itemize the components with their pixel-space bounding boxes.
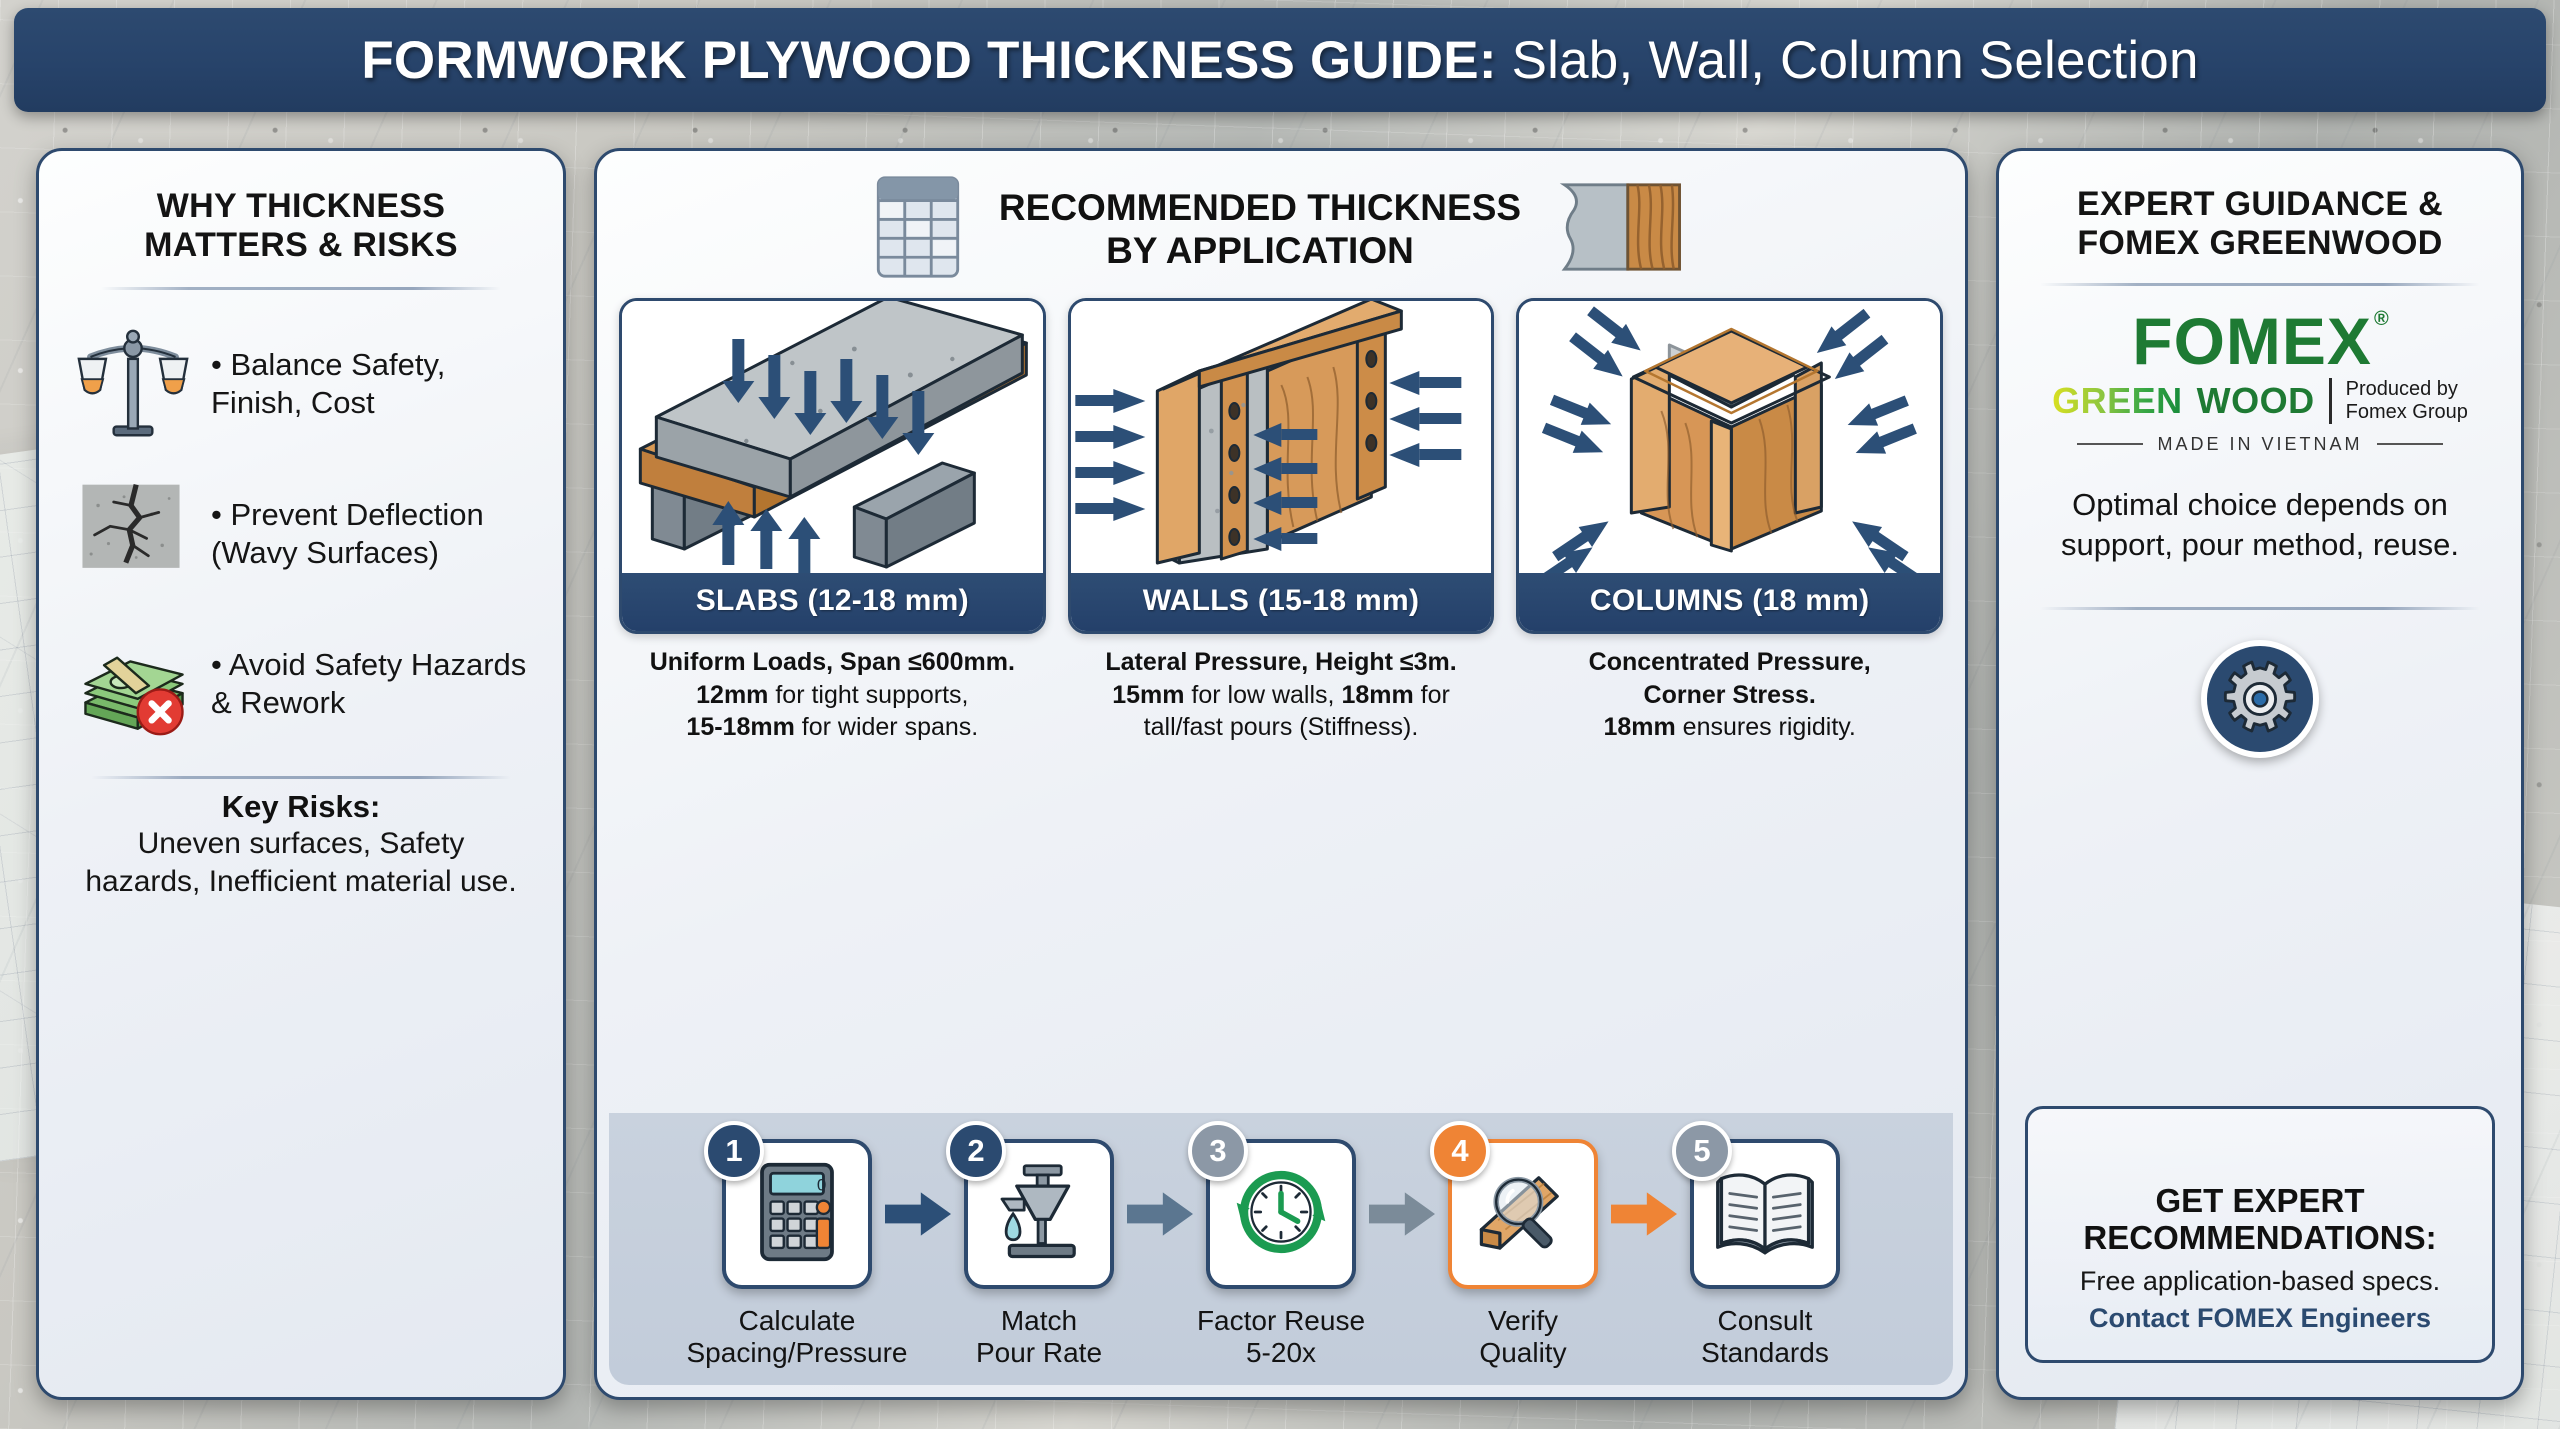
- open-book-icon: [1714, 1167, 1816, 1262]
- notes-walls-l2r2: for: [1414, 681, 1450, 709]
- made-in-vietnam: MADE IN VIETNAM: [2023, 434, 2497, 455]
- why-thickness-panel: WHY THICKNESS MATTERS & RISKS: [36, 148, 566, 1400]
- risk-list: • Balance Safety, Finish, Cost: [65, 326, 537, 742]
- risk-item-label: • Balance Safety, Finish, Cost: [211, 346, 537, 420]
- cta-box[interactable]: GET EXPERT RECOMMENDATIONS: Free applica…: [2025, 1106, 2495, 1363]
- notes-walls-l2b: 15mm: [1112, 681, 1184, 709]
- center-title-line1: RECOMMENDED THICKNESS: [999, 187, 1521, 229]
- application-notes: Uniform Loads, Span ≤600mm. 12mm for tig…: [597, 634, 1965, 744]
- arrow-3-4: [1366, 1139, 1438, 1289]
- risk-item-label: • Avoid Safety Hazards & Rework: [211, 646, 537, 720]
- notes-cols-l2b: 18mm: [1603, 713, 1675, 741]
- center-panel-title: RECOMMENDED THICKNESS BY APPLICATION: [999, 187, 1521, 271]
- right-divider: [2040, 283, 2480, 286]
- clock-reuse-icon: [1233, 1164, 1329, 1265]
- application-cards: SLABS (12-18 mm): [597, 284, 1965, 634]
- risk-item: • Prevent Deflection (Wavy Surfaces): [65, 476, 537, 592]
- notes-slabs-l3r: for wider spans.: [795, 713, 978, 741]
- risk-item-label: • Prevent Deflection (Wavy Surfaces): [211, 496, 537, 570]
- made-in-rule-left: [2077, 443, 2143, 445]
- step-1-number: 1: [704, 1121, 764, 1181]
- page-title-light: Slab, Wall, Column Selection: [1497, 31, 2199, 90]
- risk-item: • Avoid Safety Hazards & Rework: [65, 626, 537, 742]
- notes-slabs-l2b: 12mm: [696, 681, 768, 709]
- step-3-tile[interactable]: 3: [1206, 1139, 1356, 1289]
- step-4-number: 4: [1430, 1121, 1490, 1181]
- step-2-label-line2: Pour Rate: [976, 1337, 1102, 1369]
- step-1-calculate[interactable]: 1 0: [704, 1139, 890, 1370]
- right-panel-paragraph: Optimal choice depends on support, pour …: [2023, 485, 2497, 566]
- cta-heading-line2: RECOMMENDATIONS:: [2048, 1220, 2472, 1257]
- produced-by-text: Produced by Fomex Group: [2346, 378, 2468, 424]
- arrow-2-3: [1124, 1139, 1196, 1289]
- notes-walls: Lateral Pressure, Height ≤3m. 15mm for l…: [1068, 634, 1495, 744]
- notes-walls-l1: Lateral Pressure, Height ≤3m.: [1105, 648, 1456, 676]
- column-formwork-illustration: [1519, 301, 1940, 573]
- cta-contact-link[interactable]: Contact FOMEX Engineers: [2048, 1303, 2472, 1334]
- notes-columns: Concentrated Pressure, Corner Stress. 18…: [1516, 634, 1943, 744]
- application-card-columns: COLUMNS (18 mm): [1516, 298, 1943, 634]
- center-title-line2: BY APPLICATION: [999, 230, 1521, 272]
- step-3-label-line1: Factor Reuse: [1197, 1305, 1365, 1337]
- notes-cols-l2r: ensures rigidity.: [1676, 713, 1856, 741]
- center-panel-header: RECOMMENDED THICKNESS BY APPLICATION: [597, 151, 1965, 284]
- step-1-label-line2: Spacing/Pressure: [687, 1337, 908, 1369]
- expert-guidance-panel: EXPERT GUIDANCE & FOMEX GREENWOOD FOMEX®…: [1996, 148, 2524, 1400]
- logo-divider: [2329, 378, 2332, 424]
- notes-walls-l3: tall/fast pours (Stiffness).: [1144, 713, 1419, 741]
- recommended-thickness-panel: RECOMMENDED THICKNESS BY APPLICATION: [594, 148, 1968, 1400]
- notes-slabs-l3b: 15-18mm: [686, 713, 794, 741]
- step-2-tile[interactable]: 2: [964, 1139, 1114, 1289]
- step-5-label-line2: Standards: [1701, 1337, 1829, 1369]
- cracked-concrete-icon: [75, 476, 191, 592]
- key-risks-block: Key Risks: Uneven surfaces, Safety hazar…: [65, 789, 537, 902]
- step-3-factor-reuse[interactable]: 3: [1188, 1139, 1374, 1370]
- notes-cols-l1: Concentrated Pressure,: [1589, 648, 1871, 676]
- step-2-label-line1: Match: [976, 1305, 1102, 1337]
- svg-text:0: 0: [817, 1175, 826, 1194]
- step-4-label-line1: Verify: [1479, 1305, 1566, 1337]
- arrow-1-2: [882, 1139, 954, 1289]
- right-panel-title: EXPERT GUIDANCE & FOMEX GREENWOOD: [2023, 185, 2497, 263]
- greenwood-green-text: GREEN: [2052, 380, 2183, 422]
- spec-table-icon: [875, 175, 961, 284]
- step-2-label: Match Pour Rate: [976, 1305, 1102, 1370]
- card-caption-walls: WALLS (15-18 mm): [1071, 573, 1492, 631]
- page-title-bold: FORMWORK PLYWOOD THICKNESS GUIDE:: [361, 31, 1496, 90]
- greenwood-wood-text: WOOD: [2197, 380, 2315, 422]
- gear-icon: [2201, 640, 2319, 758]
- step-3-number: 3: [1188, 1121, 1248, 1181]
- step-2-number: 2: [946, 1121, 1006, 1181]
- fomex-wordmark: FOMEX®: [2132, 308, 2387, 374]
- step-4-label-line2: Quality: [1479, 1337, 1566, 1369]
- produced-by-line2: Fomex Group: [2346, 401, 2468, 424]
- greenwood-line: GREEN WOOD Produced by Fomex Group: [2023, 378, 2497, 424]
- left-panel-title: WHY THICKNESS MATTERS & RISKS: [65, 187, 537, 265]
- right-divider-2: [2040, 607, 2480, 610]
- card-caption-slabs: SLABS (12-18 mm): [622, 573, 1043, 631]
- application-card-slabs: SLABS (12-18 mm): [619, 298, 1046, 634]
- step-3-label: Factor Reuse 5-20x: [1197, 1305, 1365, 1370]
- process-steps-strip: 1 0: [609, 1113, 1953, 1385]
- step-4-tile[interactable]: 4: [1448, 1139, 1598, 1289]
- page-title: FORMWORK PLYWOOD THICKNESS GUIDE: Slab, …: [361, 30, 2198, 91]
- step-5-tile[interactable]: 5: [1690, 1139, 1840, 1289]
- left-title-line2: MATTERS & RISKS: [65, 226, 537, 265]
- slab-formwork-illustration: [622, 301, 1043, 573]
- notes-slabs: Uniform Loads, Span ≤600mm. 12mm for tig…: [619, 634, 1046, 744]
- fomex-logo: FOMEX® GREEN WOOD Produced by Fomex Grou…: [2023, 308, 2497, 455]
- step-3-label-line2: 5-20x: [1197, 1337, 1365, 1369]
- magnifier-plank-icon: [1474, 1163, 1572, 1266]
- notes-walls-l2b2: 18mm: [1341, 681, 1413, 709]
- made-in-rule-right: [2377, 443, 2443, 445]
- made-in-text: MADE IN VIETNAM: [2157, 434, 2362, 455]
- produced-by-line1: Produced by: [2346, 378, 2468, 401]
- pour-funnel-icon: [992, 1162, 1086, 1267]
- plywood-edge-icon: [1559, 181, 1687, 278]
- arrow-4-5: [1608, 1139, 1680, 1289]
- header-banner: FORMWORK PLYWOOD THICKNESS GUIDE: Slab, …: [14, 8, 2546, 112]
- step-5-number: 5: [1672, 1121, 1732, 1181]
- step-1-label: Calculate Spacing/Pressure: [687, 1305, 908, 1370]
- notes-slabs-l2r: for tight supports,: [768, 681, 968, 709]
- step-4-label: Verify Quality: [1479, 1305, 1566, 1370]
- notes-slabs-l1: Uniform Loads, Span ≤600mm.: [650, 648, 1015, 676]
- money-blocked-icon: [75, 626, 191, 742]
- card-caption-columns: COLUMNS (18 mm): [1519, 573, 1940, 631]
- registered-mark: ®: [2374, 309, 2390, 329]
- risk-item: • Balance Safety, Finish, Cost: [65, 326, 537, 442]
- wall-formwork-illustration: [1071, 301, 1492, 573]
- step-4-verify-quality[interactable]: 4: [1430, 1139, 1616, 1370]
- step-1-label-line1: Calculate: [687, 1305, 908, 1337]
- step-5-consult-standards[interactable]: 5: [1672, 1139, 1858, 1370]
- step-5-label: Consult Standards: [1701, 1305, 1829, 1370]
- notes-cols-l1b: Corner Stress.: [1644, 681, 1816, 709]
- cta-heading: GET EXPERT RECOMMENDATIONS:: [2048, 1183, 2472, 1257]
- right-title-line2: FOMEX GREENWOOD: [2023, 224, 2497, 263]
- step-2-match-pour-rate[interactable]: 2 Match Pour Rate: [946, 1139, 1132, 1370]
- left-title-line1: WHY THICKNESS: [65, 187, 537, 226]
- calculator-icon: 0: [754, 1160, 840, 1269]
- left-divider: [101, 287, 501, 290]
- step-1-tile[interactable]: 1 0: [722, 1139, 872, 1289]
- cta-subtext: Free application-based specs.: [2048, 1265, 2472, 1297]
- step-5-label-line1: Consult: [1701, 1305, 1829, 1337]
- key-risks-body: Uneven surfaces, Safety hazards, Ineffic…: [79, 825, 523, 902]
- right-title-line1: EXPERT GUIDANCE &: [2023, 185, 2497, 224]
- key-risks-heading: Key Risks:: [79, 789, 523, 825]
- notes-walls-l2r: for low walls,: [1184, 681, 1341, 709]
- balance-scale-icon: [75, 326, 191, 442]
- fomex-wordmark-text: FOMEX: [2132, 308, 2372, 374]
- application-card-walls: WALLS (15-18 mm): [1068, 298, 1495, 634]
- left-divider-2: [91, 776, 511, 779]
- cta-heading-line1: GET EXPERT: [2048, 1183, 2472, 1220]
